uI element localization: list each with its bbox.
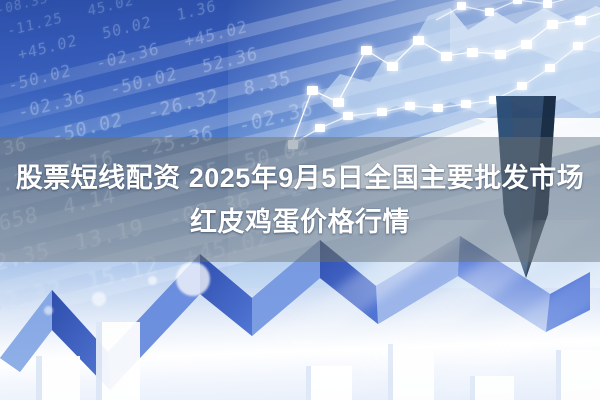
light-glint <box>92 292 106 306</box>
ticker-value: -02.36 <box>17 87 86 124</box>
stock-market-banner: +45.02-08.3521.36-02.36-11.2545.024.36-1… <box>0 0 600 400</box>
ticker-value: 45.02 <box>87 0 135 20</box>
ticker-value: -26.32 <box>147 86 220 125</box>
ticker-value: 52.36 <box>201 44 259 78</box>
ticker-value: -50.02 <box>7 61 72 96</box>
title-overlay-band: 股票短线配资 2025年9月5日全国主要批发市场 红皮鸡蛋价格行情 <box>0 137 600 262</box>
banner-title-line-1: 股票短线配资 2025年9月5日全国主要批发市场 <box>16 156 585 200</box>
ticker-value: 1.36 <box>176 0 218 24</box>
light-glint <box>44 306 53 315</box>
ticker-value: +45.02 <box>183 17 248 52</box>
ticker-value: -02.36 <box>95 39 160 74</box>
ticker-value: 8.35 <box>243 68 293 101</box>
light-glint <box>176 262 210 296</box>
banner-title-line-2: 红皮鸡蛋价格行情 <box>190 200 410 244</box>
ticker-value: +45.02 <box>17 31 78 64</box>
ticker-value: 50.02 <box>101 13 152 43</box>
ticker-value: -50.02 <box>109 64 178 101</box>
light-glint <box>148 276 157 285</box>
